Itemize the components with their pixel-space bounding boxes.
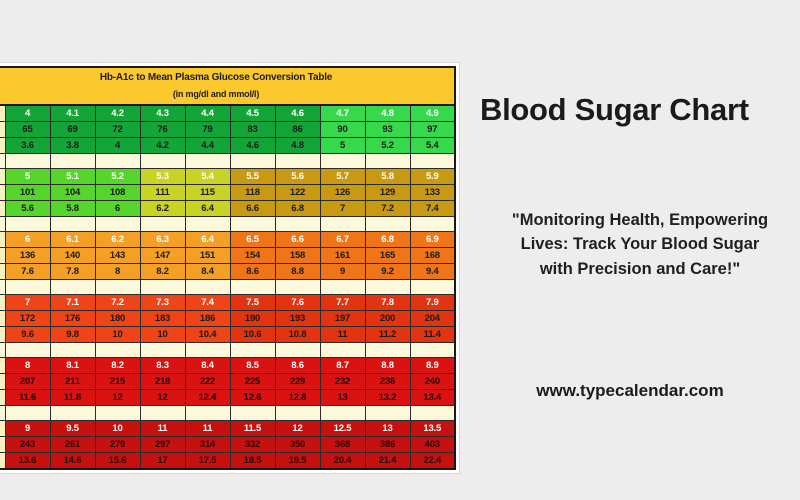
cell-a1c: 8.1 <box>50 358 95 374</box>
cell-a1c: 5.8 <box>365 169 410 185</box>
spacer-cell <box>320 406 365 421</box>
cell-mgdl: 161 <box>320 248 365 264</box>
cell-mmol: 13.6 <box>5 453 50 470</box>
spacer-cell <box>410 217 455 232</box>
cell-a1c: 6.2 <box>95 232 140 248</box>
cell-mgdl: 168 <box>410 248 455 264</box>
cell-mmol: 9.6 <box>5 327 50 343</box>
cell-mgdl: 314 <box>185 437 230 453</box>
cell-mgdl: 83 <box>230 122 275 138</box>
cell-mmol: 12 <box>140 390 185 406</box>
cell-a1c: 8 <box>5 358 50 374</box>
cell-mmol: 21.4 <box>365 453 410 470</box>
cell-mgdl: 180 <box>95 311 140 327</box>
cell-a1c: 9.5 <box>50 421 95 437</box>
cell-mmol: 5.8 <box>50 201 95 217</box>
cell-mgdl: 218 <box>140 374 185 390</box>
cell-a1c: 6.7 <box>320 232 365 248</box>
cell-mmol: 7.4 <box>410 201 455 217</box>
tagline-line-1: "Monitoring Health, Empowering <box>470 208 800 232</box>
cell-mgdl: 115 <box>185 185 230 201</box>
cell-mgdl: 183 <box>140 311 185 327</box>
cell-mgdl: 236 <box>365 374 410 390</box>
cell-mgdl: 297 <box>140 437 185 453</box>
table-row-mmol: ol/l5.65.866.26.46.66.877.27.4 <box>0 201 455 217</box>
cell-mgdl: 350 <box>275 437 320 453</box>
table-spacer-row <box>0 217 455 232</box>
spacer-cell <box>230 280 275 295</box>
cell-mmol: 4.2 <box>140 138 185 154</box>
spacer-cell <box>50 343 95 358</box>
table-spacer-row <box>0 343 455 358</box>
cell-a1c: 6 <box>5 232 50 248</box>
table-row-mmol: ol/l7.67.888.28.48.68.899.29.4 <box>0 264 455 280</box>
spacer-cell <box>230 154 275 169</box>
cell-mgdl: 186 <box>185 311 230 327</box>
cell-a1c: 9 <box>5 421 50 437</box>
cell-mgdl: 122 <box>275 185 320 201</box>
cell-mmol: 6.8 <box>275 201 320 217</box>
spacer-cell <box>5 280 50 295</box>
cell-a1c: 7 <box>5 295 50 311</box>
cell-mgdl: 190 <box>230 311 275 327</box>
table-row-a1c: A1c66.16.26.36.46.56.66.76.86.9 <box>0 232 455 248</box>
cell-mgdl: 243 <box>5 437 50 453</box>
cell-mmol: 4 <box>95 138 140 154</box>
cell-mmol: 12.4 <box>185 390 230 406</box>
cell-mmol: 8 <box>95 264 140 280</box>
cell-a1c: 4.4 <box>185 105 230 122</box>
spacer-cell <box>320 343 365 358</box>
cell-a1c: 5.1 <box>50 169 95 185</box>
cell-mmol: 10 <box>95 327 140 343</box>
cell-mgdl: 72 <box>95 122 140 138</box>
cell-mmol: 22.4 <box>410 453 455 470</box>
cell-mgdl: 76 <box>140 122 185 138</box>
cell-mgdl: 229 <box>275 374 320 390</box>
cell-a1c: 6.3 <box>140 232 185 248</box>
cell-mmol: 12.8 <box>275 390 320 406</box>
spacer-cell <box>365 343 410 358</box>
spacer-cell <box>185 406 230 421</box>
cell-mgdl: 140 <box>50 248 95 264</box>
table-row-mmol: ol/l11.611.8121212.412.612.81313.213.4 <box>0 390 455 406</box>
cell-a1c: 4 <box>5 105 50 122</box>
cell-mmol: 10.8 <box>275 327 320 343</box>
table-spacer-row <box>0 406 455 421</box>
spacer-cell <box>320 280 365 295</box>
cell-mmol: 7.6 <box>5 264 50 280</box>
cell-mgdl: 97 <box>410 122 455 138</box>
spacer-cell <box>50 154 95 169</box>
table-row-mgdl: /dl207211215218222225229232236240 <box>0 374 455 390</box>
cell-mgdl: 211 <box>50 374 95 390</box>
cell-mmol: 5.6 <box>5 201 50 217</box>
cell-a1c: 8.6 <box>275 358 320 374</box>
cell-a1c: 5.6 <box>275 169 320 185</box>
spacer-cell <box>95 154 140 169</box>
cell-mmol: 3.6 <box>5 138 50 154</box>
cell-mmol: 8.6 <box>230 264 275 280</box>
cell-a1c: 4.1 <box>50 105 95 122</box>
cell-a1c: 4.6 <box>275 105 320 122</box>
cell-mmol: 9 <box>320 264 365 280</box>
cell-a1c: 4.8 <box>365 105 410 122</box>
table-row-a1c: A1c77.17.27.37.47.57.67.77.87.9 <box>0 295 455 311</box>
spacer-cell <box>275 217 320 232</box>
cell-mmol: 10.6 <box>230 327 275 343</box>
cell-mmol: 5 <box>320 138 365 154</box>
cell-mmol: 7.2 <box>365 201 410 217</box>
spacer-cell <box>140 343 185 358</box>
cell-a1c: 7.2 <box>95 295 140 311</box>
cell-a1c: 4.9 <box>410 105 455 122</box>
cell-a1c: 6.4 <box>185 232 230 248</box>
cell-a1c: 6.9 <box>410 232 455 248</box>
spacer-cell <box>5 406 50 421</box>
table-row-mmol: ol/l3.63.844.24.44.64.855.25.4 <box>0 138 455 154</box>
cell-a1c: 6.6 <box>275 232 320 248</box>
table-row-mgdl: /dl243261279297314332350368386403 <box>0 437 455 453</box>
spacer-cell <box>230 217 275 232</box>
cell-mmol: 10.4 <box>185 327 230 343</box>
spacer-cell <box>275 154 320 169</box>
cell-a1c: 8.8 <box>365 358 410 374</box>
spacer-cell <box>230 406 275 421</box>
cell-a1c: 6.8 <box>365 232 410 248</box>
cell-mmol: 13.4 <box>410 390 455 406</box>
spacer-cell <box>95 343 140 358</box>
cell-mgdl: 386 <box>365 437 410 453</box>
cell-mgdl: 158 <box>275 248 320 264</box>
cell-a1c: 7.3 <box>140 295 185 311</box>
cell-mmol: 8.8 <box>275 264 320 280</box>
spacer-cell <box>95 217 140 232</box>
cell-mmol: 11.8 <box>50 390 95 406</box>
table-header-title: Hb-A1c to Mean Plasma Glucose Conversion… <box>0 70 454 85</box>
cell-mmol: 11 <box>320 327 365 343</box>
cell-a1c: 4.7 <box>320 105 365 122</box>
cell-mgdl: 86 <box>275 122 320 138</box>
cell-mgdl: 215 <box>95 374 140 390</box>
cell-mmol: 9.2 <box>365 264 410 280</box>
cell-a1c: 13.5 <box>410 421 455 437</box>
spacer-cell <box>230 343 275 358</box>
table-row-mgdl: /dl136140143147151154158161165168 <box>0 248 455 264</box>
cell-mmol: 17.5 <box>185 453 230 470</box>
cell-a1c: 12 <box>275 421 320 437</box>
cell-mgdl: 232 <box>320 374 365 390</box>
cell-mgdl: 332 <box>230 437 275 453</box>
cell-a1c: 8.9 <box>410 358 455 374</box>
cell-a1c: 8.7 <box>320 358 365 374</box>
cell-mmol: 9.8 <box>50 327 95 343</box>
cell-mmol: 11.6 <box>5 390 50 406</box>
cell-a1c: 4.3 <box>140 105 185 122</box>
spacer-cell <box>95 406 140 421</box>
cell-mmol: 17 <box>140 453 185 470</box>
cell-mgdl: 197 <box>320 311 365 327</box>
spacer-cell <box>275 343 320 358</box>
spacer-cell <box>140 217 185 232</box>
spacer-cell <box>5 154 50 169</box>
cell-mmol: 12.6 <box>230 390 275 406</box>
cell-mmol: 6.2 <box>140 201 185 217</box>
cell-a1c: 8.2 <box>95 358 140 374</box>
cell-mmol: 8.4 <box>185 264 230 280</box>
table-row-mgdl: /dl172176180183186190193197200204 <box>0 311 455 327</box>
cell-a1c: 7.6 <box>275 295 320 311</box>
spacer-cell <box>50 217 95 232</box>
cell-mmol: 14.6 <box>50 453 95 470</box>
cell-a1c: 5.5 <box>230 169 275 185</box>
cell-mmol: 19.5 <box>275 453 320 470</box>
table-row-mgdl: /dl65697276798386909397 <box>0 122 455 138</box>
table-row-mgdl: /dl101104108111115118122126129133 <box>0 185 455 201</box>
cell-a1c: 12.5 <box>320 421 365 437</box>
cell-mmol: 13 <box>320 390 365 406</box>
cell-a1c: 7.5 <box>230 295 275 311</box>
cell-mmol: 5.2 <box>365 138 410 154</box>
cell-mgdl: 240 <box>410 374 455 390</box>
cell-a1c: 8.4 <box>185 358 230 374</box>
cell-mmol: 12 <box>95 390 140 406</box>
cell-a1c: 5.9 <box>410 169 455 185</box>
cell-mgdl: 207 <box>5 374 50 390</box>
cell-mgdl: 143 <box>95 248 140 264</box>
cell-mgdl: 69 <box>50 122 95 138</box>
cell-mgdl: 154 <box>230 248 275 264</box>
cell-mmol: 6.6 <box>230 201 275 217</box>
cell-mgdl: 176 <box>50 311 95 327</box>
cell-mgdl: 65 <box>5 122 50 138</box>
spacer-cell <box>185 154 230 169</box>
cell-mgdl: 261 <box>50 437 95 453</box>
spacer-cell <box>185 343 230 358</box>
cell-mgdl: 368 <box>320 437 365 453</box>
cell-mgdl: 165 <box>365 248 410 264</box>
cell-a1c: 7.4 <box>185 295 230 311</box>
table-spacer-row <box>0 280 455 295</box>
cell-mmol: 13.2 <box>365 390 410 406</box>
cell-a1c: 13 <box>365 421 410 437</box>
hba1c-conversion-table: Hb-A1c to Mean Plasma Glucose Conversion… <box>0 66 456 470</box>
table-row-mmol: ol/l13.614.615.61717.518.519.520.421.422… <box>0 453 455 470</box>
cell-a1c: 5 <box>5 169 50 185</box>
cell-mgdl: 129 <box>365 185 410 201</box>
spacer-cell <box>410 406 455 421</box>
cell-a1c: 6.1 <box>50 232 95 248</box>
spacer-cell <box>320 154 365 169</box>
spacer-cell <box>275 280 320 295</box>
table-row-a1c: A1c55.15.25.35.45.55.65.75.85.9 <box>0 169 455 185</box>
table-header-subtitle: (in mg/dl and mmol/l) <box>0 85 454 102</box>
cell-a1c: 8.3 <box>140 358 185 374</box>
cell-mgdl: 111 <box>140 185 185 201</box>
spacer-cell <box>185 217 230 232</box>
cell-a1c: 11 <box>185 421 230 437</box>
cell-mgdl: 403 <box>410 437 455 453</box>
spacer-cell <box>50 280 95 295</box>
spacer-cell <box>185 280 230 295</box>
cell-mgdl: 126 <box>320 185 365 201</box>
cell-mmol: 11.4 <box>410 327 455 343</box>
cell-mmol: 4.8 <box>275 138 320 154</box>
table-header-cell: Hb-A1c to Mean Plasma Glucose Conversion… <box>0 67 455 105</box>
spacer-cell <box>410 280 455 295</box>
cell-mmol: 9.4 <box>410 264 455 280</box>
cell-a1c: 7.8 <box>365 295 410 311</box>
cell-a1c: 7.9 <box>410 295 455 311</box>
cell-mgdl: 151 <box>185 248 230 264</box>
table-spacer-row <box>0 154 455 169</box>
spacer-cell <box>275 406 320 421</box>
tagline-line-2: Lives: Track Your Blood Sugar <box>470 232 800 256</box>
cell-mmol: 5.4 <box>410 138 455 154</box>
spacer-cell <box>365 406 410 421</box>
cell-mgdl: 90 <box>320 122 365 138</box>
cell-mgdl: 222 <box>185 374 230 390</box>
cell-mgdl: 104 <box>50 185 95 201</box>
cell-a1c: 11.5 <box>230 421 275 437</box>
cell-mgdl: 147 <box>140 248 185 264</box>
table-row-a1c: A1c88.18.28.38.48.58.68.78.88.9 <box>0 358 455 374</box>
cell-mmol: 3.8 <box>50 138 95 154</box>
spacer-cell <box>5 217 50 232</box>
spacer-cell <box>410 343 455 358</box>
spacer-cell <box>140 406 185 421</box>
table-row-a1c: A1c44.14.24.34.44.54.64.74.84.9 <box>0 105 455 122</box>
cell-a1c: 7.7 <box>320 295 365 311</box>
cell-mgdl: 93 <box>365 122 410 138</box>
cell-mgdl: 204 <box>410 311 455 327</box>
cell-a1c: 5.4 <box>185 169 230 185</box>
cell-mgdl: 133 <box>410 185 455 201</box>
cell-mmol: 15.6 <box>95 453 140 470</box>
cell-mgdl: 118 <box>230 185 275 201</box>
cell-a1c: 5.7 <box>320 169 365 185</box>
spacer-cell <box>365 154 410 169</box>
table-row-a1c: A1c99.510111111.51212.51313.5 <box>0 421 455 437</box>
cell-a1c: 8.5 <box>230 358 275 374</box>
spacer-cell <box>140 280 185 295</box>
cell-mmol: 8.2 <box>140 264 185 280</box>
cell-mmol: 4.6 <box>230 138 275 154</box>
page-title: Blood Sugar Chart <box>480 92 800 128</box>
title-block: Blood Sugar Chart <box>480 92 800 128</box>
cell-mgdl: 279 <box>95 437 140 453</box>
tagline-line-3: with Precision and Care!" <box>470 257 800 281</box>
table-header-row: Hb-A1c to Mean Plasma Glucose Conversion… <box>0 67 455 105</box>
table-row-mmol: ol/l9.69.8101010.410.610.81111.211.4 <box>0 327 455 343</box>
cell-mgdl: 200 <box>365 311 410 327</box>
cell-a1c: 11 <box>140 421 185 437</box>
cell-a1c: 6.5 <box>230 232 275 248</box>
cell-mmol: 6 <box>95 201 140 217</box>
cell-mgdl: 108 <box>95 185 140 201</box>
cell-mgdl: 193 <box>275 311 320 327</box>
cell-mmol: 11.2 <box>365 327 410 343</box>
cell-a1c: 4.5 <box>230 105 275 122</box>
cell-mgdl: 79 <box>185 122 230 138</box>
spacer-cell <box>365 217 410 232</box>
spacer-cell <box>365 280 410 295</box>
cell-a1c: 5.3 <box>140 169 185 185</box>
cell-mgdl: 172 <box>5 311 50 327</box>
cell-mmol: 6.4 <box>185 201 230 217</box>
tagline: "Monitoring Health, Empowering Lives: Tr… <box>470 208 800 281</box>
cell-mmol: 10 <box>140 327 185 343</box>
cell-mgdl: 136 <box>5 248 50 264</box>
cell-a1c: 10 <box>95 421 140 437</box>
cell-mmol: 18.5 <box>230 453 275 470</box>
cell-mgdl: 101 <box>5 185 50 201</box>
spacer-cell <box>95 280 140 295</box>
cell-mmol: 4.4 <box>185 138 230 154</box>
spacer-cell <box>140 154 185 169</box>
cell-mmol: 20.4 <box>320 453 365 470</box>
cell-a1c: 7.1 <box>50 295 95 311</box>
spacer-cell <box>50 406 95 421</box>
cell-a1c: 5.2 <box>95 169 140 185</box>
spacer-cell <box>5 343 50 358</box>
spacer-cell <box>410 154 455 169</box>
conversion-table-panel: Hb-A1c to Mean Plasma Glucose Conversion… <box>0 62 460 474</box>
site-url: www.typecalendar.com <box>470 381 790 401</box>
cell-mmol: 7.8 <box>50 264 95 280</box>
cell-a1c: 4.2 <box>95 105 140 122</box>
spacer-cell <box>320 217 365 232</box>
cell-mmol: 7 <box>320 201 365 217</box>
cell-mgdl: 225 <box>230 374 275 390</box>
